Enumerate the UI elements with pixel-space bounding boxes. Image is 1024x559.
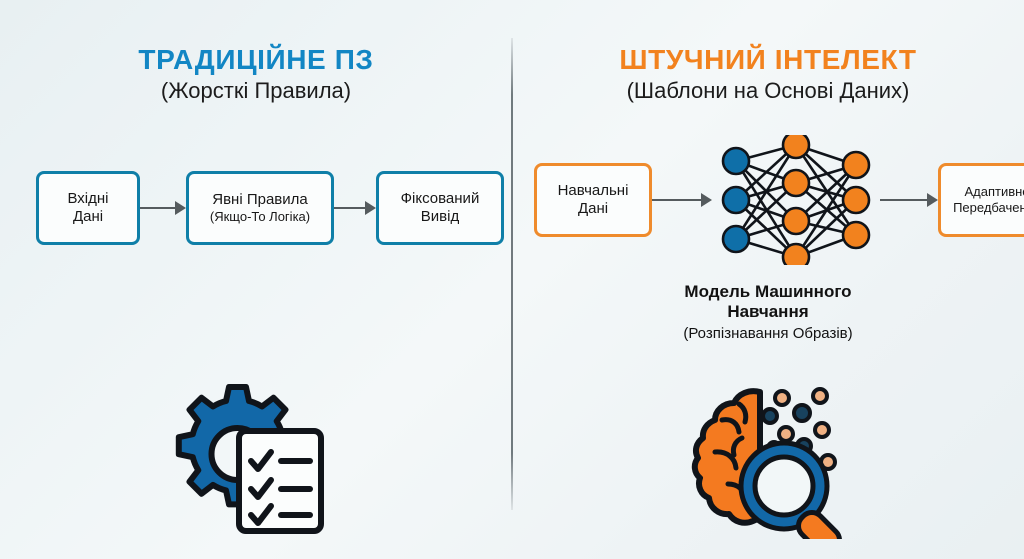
explicit-rules-box[interactable]: Явні Правила (Якщо-То Логіка) bbox=[186, 171, 334, 245]
output-layer-nodes bbox=[843, 152, 869, 248]
fixed-output-line2: Вивід bbox=[421, 208, 459, 226]
node-hidden-4 bbox=[783, 244, 809, 265]
adaptive-prediction-box[interactable]: Адаптивне Передбачення bbox=[938, 163, 1024, 237]
node-output-2 bbox=[843, 187, 869, 213]
arrow-shaft bbox=[334, 207, 366, 210]
arrow-head bbox=[175, 201, 186, 215]
checklist-shape bbox=[239, 431, 321, 531]
input-data-box[interactable]: Вхідні Дані bbox=[36, 171, 140, 245]
input-data-line2: Дані bbox=[73, 208, 103, 226]
arrow-rules-to-output bbox=[334, 201, 376, 215]
node-hidden-2 bbox=[783, 170, 809, 196]
fixed-output-line1: Фіксований bbox=[401, 190, 480, 208]
arrow-network-to-prediction bbox=[880, 193, 938, 207]
fixed-output-box[interactable]: Фіксований Вивід bbox=[376, 171, 504, 245]
input-data-line1: Вхідні bbox=[67, 190, 108, 208]
artificial-intelligence-panel: ШТУЧНИЙ ІНТЕЛЕКТ (Шаблони на Основі Дани… bbox=[512, 0, 1024, 559]
arrow-head bbox=[365, 201, 376, 215]
arrow-head bbox=[927, 193, 938, 207]
infographic-canvas: ТРАДИЦІЙНЕ ПЗ (Жорсткі Правила) Вхідні Д… bbox=[0, 0, 1024, 559]
node-input-2 bbox=[723, 187, 749, 213]
node-input-3 bbox=[723, 226, 749, 252]
training-data-line2: Дані bbox=[578, 200, 608, 218]
explicit-rules-line2: (Якщо-То Логіка) bbox=[210, 209, 310, 225]
hidden-layer-nodes bbox=[783, 135, 809, 265]
node-output-3 bbox=[843, 222, 869, 248]
explicit-rules-line1: Явні Правила bbox=[212, 191, 308, 209]
node-output-1 bbox=[843, 152, 869, 178]
traditional-title: ТРАДИЦІЙНЕ ПЗ bbox=[0, 45, 512, 74]
neural-network-diagram bbox=[712, 135, 880, 265]
traditional-heading: ТРАДИЦІЙНЕ ПЗ (Жорсткі Правила) bbox=[0, 45, 512, 104]
arrow-shaft bbox=[140, 207, 176, 210]
ml-caption-line1: Модель Машинного bbox=[512, 282, 1024, 302]
training-data-line1: Навчальні bbox=[558, 182, 629, 200]
node-input-1 bbox=[723, 148, 749, 174]
arrow-training-to-network bbox=[652, 193, 712, 207]
arrow-shaft bbox=[652, 199, 702, 202]
ml-model-caption: Модель Машинного Навчання (Розпізнавання… bbox=[512, 282, 1024, 344]
ai-heading: ШТУЧНИЙ ІНТЕЛЕКТ (Шаблони на Основі Дани… bbox=[512, 45, 1024, 104]
arrow-input-to-rules bbox=[140, 201, 186, 215]
ai-subtitle: (Шаблони на Основі Даних) bbox=[512, 79, 1024, 103]
adaptive-prediction-line2: Передбачення bbox=[953, 200, 1024, 216]
traditional-software-panel: ТРАДИЦІЙНЕ ПЗ (Жорсткі Правила) Вхідні Д… bbox=[0, 0, 512, 559]
ml-caption-line3: (Розпізнавання Образів) bbox=[512, 325, 1024, 344]
adaptive-prediction-line1: Адаптивне bbox=[964, 184, 1024, 200]
network-edges bbox=[736, 145, 856, 257]
traditional-flow: Вхідні Дані Явні Правила (Якщо-То Логіка… bbox=[36, 171, 504, 245]
node-hidden-1 bbox=[783, 135, 809, 158]
training-data-box[interactable]: Навчальні Дані bbox=[534, 163, 652, 237]
ml-caption-line2: Навчання bbox=[512, 302, 1024, 322]
input-layer-nodes bbox=[723, 148, 749, 252]
ai-flow: Навчальні Дані bbox=[534, 135, 1024, 265]
gear-checklist-icon bbox=[155, 379, 345, 539]
node-hidden-3 bbox=[783, 208, 809, 234]
brain-magnifier-icon bbox=[682, 374, 882, 539]
arrow-head bbox=[701, 193, 712, 207]
traditional-subtitle: (Жорсткі Правила) bbox=[0, 79, 512, 103]
arrow-shaft bbox=[880, 199, 928, 202]
ai-title: ШТУЧНИЙ ІНТЕЛЕКТ bbox=[512, 45, 1024, 74]
